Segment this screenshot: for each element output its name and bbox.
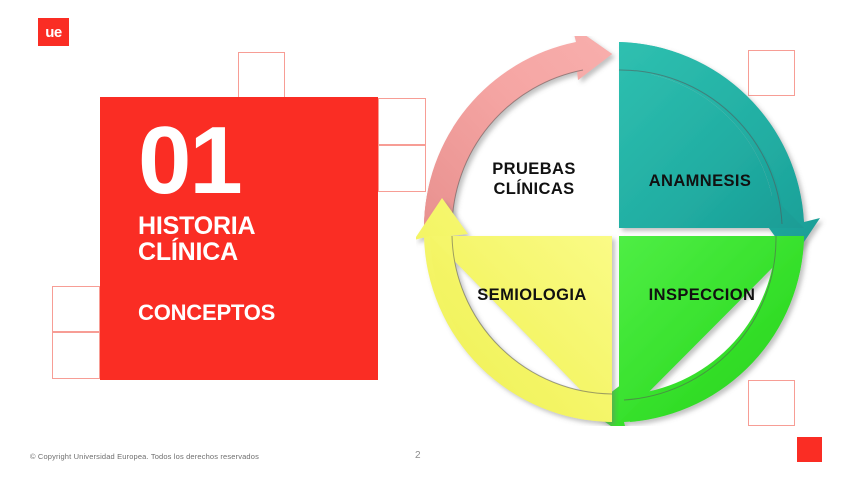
quadrant-semiologia[interactable] (416, 198, 612, 422)
quadrant-label-pruebas-clinicas: PRUEBAS CLÍNICAS (492, 160, 575, 198)
section-subheading: CONCEPTOS (138, 302, 378, 324)
ue-logo-text: ue (45, 25, 62, 40)
quadrant-anamnesis[interactable] (619, 42, 820, 260)
decorative-square-left-2 (52, 332, 100, 379)
quadrant-label-semiologia: SEMIOLOGIA (477, 286, 586, 304)
quadrant-label-inspeccion: INSPECCION (649, 286, 756, 304)
decorative-square-top-1 (238, 52, 285, 98)
cycle-diagram: PRUEBAS CLÍNICAS ANAMNESIS INSPECCION SE… (416, 36, 832, 426)
quadrant-inspeccion[interactable] (588, 236, 804, 426)
section-title-block: 01 HISTORIA CLÍNICA CONCEPTOS (100, 97, 378, 380)
label-pruebas-line1: PRUEBAS (492, 160, 575, 178)
label-pruebas-line2: CLÍNICAS (493, 179, 574, 198)
page-number: 2 (415, 450, 421, 461)
copyright-text: © Copyright Universidad Europea. Todos l… (30, 452, 259, 461)
quadrant-label-anamnesis: ANAMNESIS (649, 172, 752, 190)
quadrant-pruebas-clinicas[interactable] (424, 36, 612, 228)
slide-canvas: ue 01 HISTORIA CLÍNICA CONCEPTOS (0, 0, 848, 477)
ue-logo: ue (38, 18, 69, 46)
section-heading: HISTORIA CLÍNICA (138, 214, 378, 266)
decorative-square-left-1 (52, 286, 100, 332)
section-number: 01 (138, 115, 378, 206)
corner-accent-square (797, 437, 822, 462)
